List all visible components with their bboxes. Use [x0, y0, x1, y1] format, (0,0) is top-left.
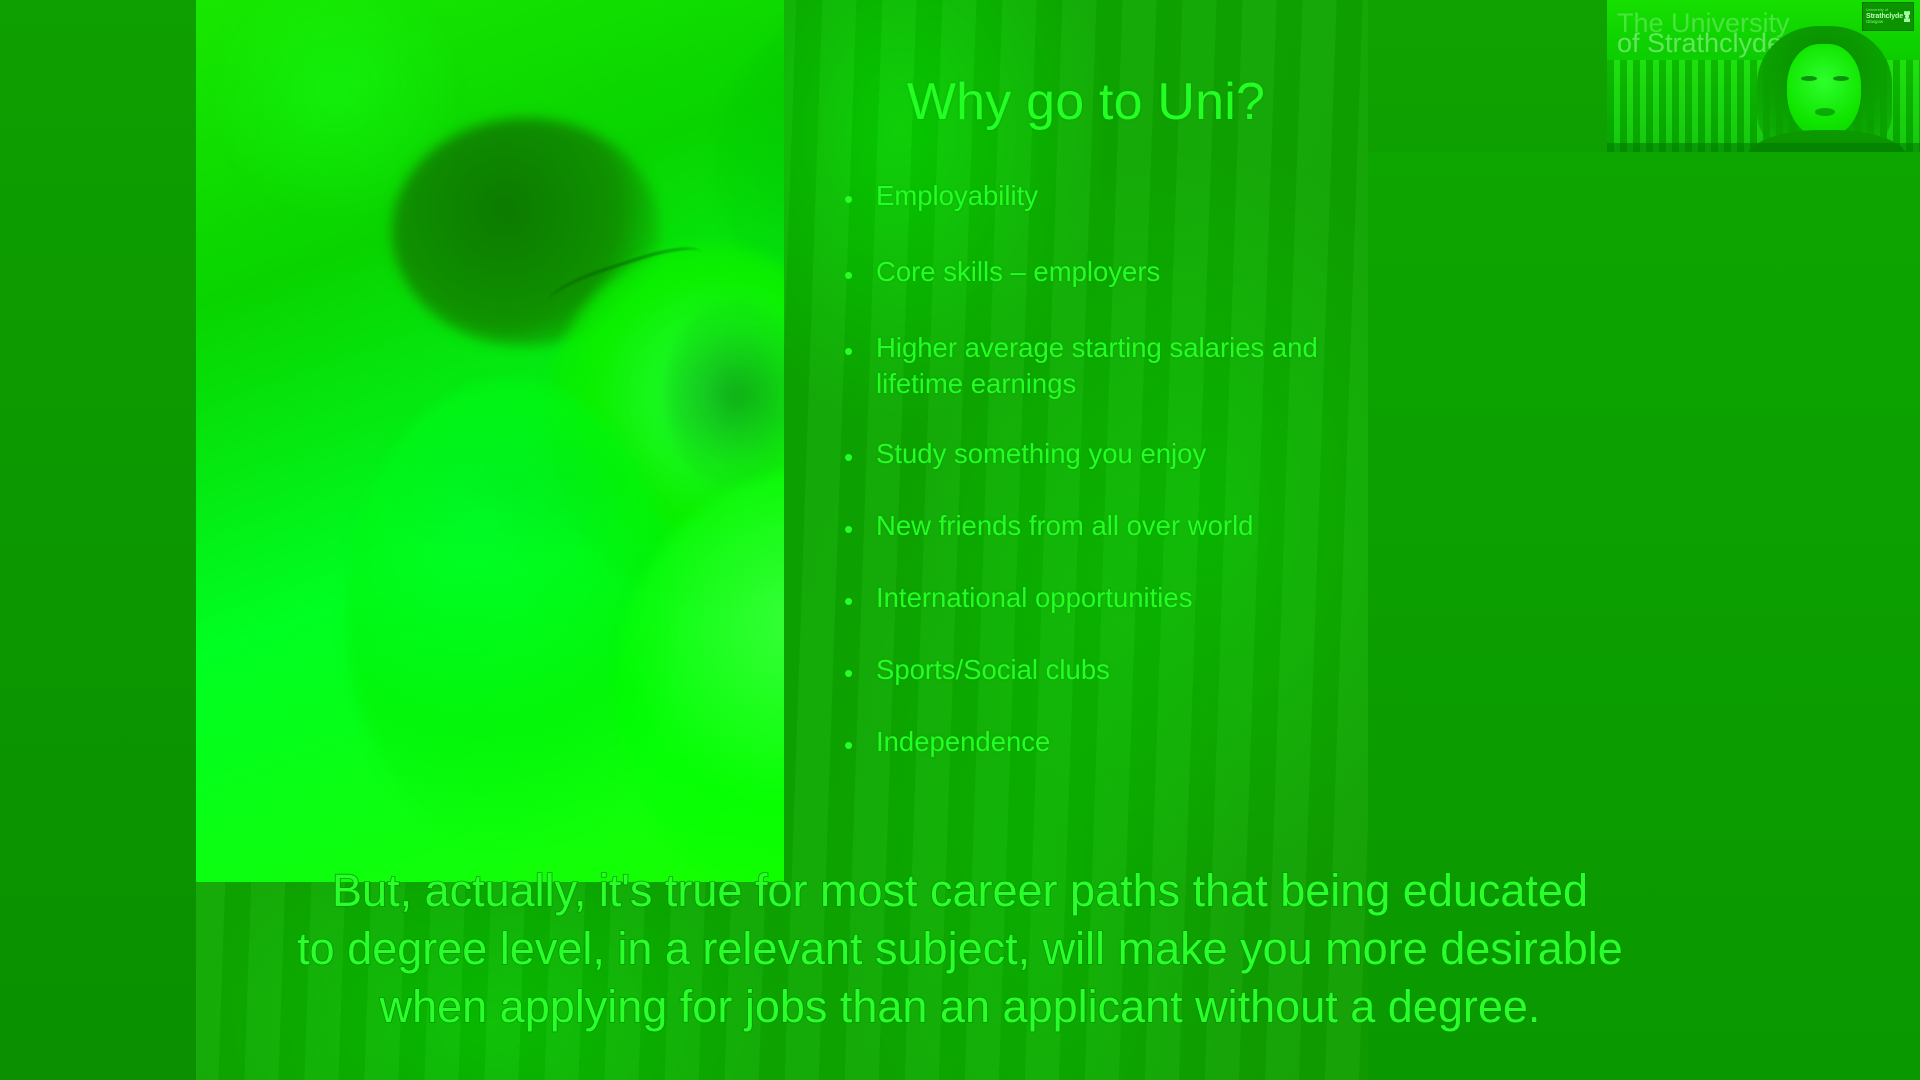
avatar-mouth	[1815, 108, 1835, 116]
meeting-side-panel	[1368, 152, 1920, 1080]
list-item: • Independence	[836, 724, 1356, 766]
list-item: • Core skills – employers	[836, 254, 1356, 296]
list-item-label: New friends from all over world	[876, 508, 1253, 544]
strathclyde-logo: University of Strathclyde Glasgow	[1862, 2, 1914, 31]
bullet-marker-icon: •	[836, 436, 876, 478]
list-item: • Employability	[836, 178, 1356, 220]
list-item-label: Higher average starting salaries and lif…	[876, 330, 1356, 402]
list-item: • Study something you enjoy	[836, 436, 1356, 478]
avatar-eye-left	[1801, 76, 1817, 81]
slide-title: Why go to Uni?	[836, 72, 1336, 132]
list-item-label: Employability	[876, 178, 1038, 214]
bullet-marker-icon: •	[836, 330, 876, 372]
left-gutter	[0, 0, 196, 1080]
bullet-marker-icon: •	[836, 724, 876, 766]
list-item-label: Independence	[876, 724, 1050, 760]
bullet-marker-icon: •	[836, 508, 876, 550]
list-item: • International opportunities	[836, 580, 1356, 622]
avatar-eye-right	[1833, 76, 1849, 81]
photo-blob-shoulder-left	[346, 380, 676, 850]
bullet-marker-icon: •	[836, 652, 876, 694]
list-item-label: International opportunities	[876, 580, 1192, 616]
slide-photo-couple	[196, 0, 784, 882]
logo-line3: Glasgow	[1866, 20, 1903, 24]
pip-bottom-bar	[1607, 143, 1920, 152]
list-item-label: Core skills – employers	[876, 254, 1160, 290]
pip-speaker-avatar	[1757, 26, 1892, 152]
bullet-marker-icon: •	[836, 254, 876, 296]
list-item: • Sports/Social clubs	[836, 652, 1356, 694]
shared-slide: Why go to Uni? • Employability • Core sk…	[196, 0, 1368, 1080]
list-item: • New friends from all over world	[836, 508, 1356, 550]
list-item-label: Sports/Social clubs	[876, 652, 1110, 688]
strathclyde-knot-mark-icon	[1904, 8, 1910, 25]
avatar-face	[1787, 44, 1861, 138]
list-item: • Higher average starting salaries and l…	[836, 330, 1356, 402]
webcam-pip-tile[interactable]: The University of Strathclyde University…	[1607, 0, 1920, 152]
bullet-marker-icon: •	[836, 580, 876, 622]
list-item-label: Study something you enjoy	[876, 436, 1206, 472]
meeting-screen-share: Why go to Uni? • Employability • Core sk…	[0, 0, 1920, 1080]
bullet-marker-icon: •	[836, 178, 876, 220]
slide-bullet-list: • Employability • Core skills – employer…	[836, 178, 1356, 796]
